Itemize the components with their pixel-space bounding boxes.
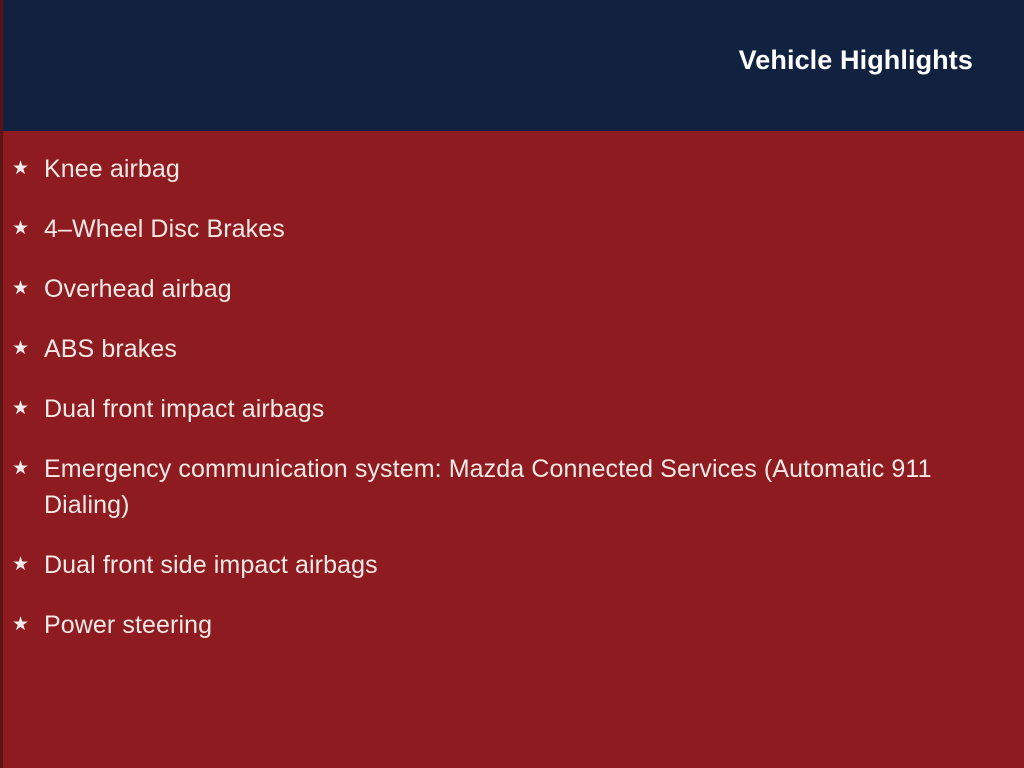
- list-item-label: Emergency communication system: Mazda Co…: [44, 451, 944, 523]
- list-item: ★ Knee airbag: [12, 151, 984, 187]
- star-bullet-icon: ★: [12, 607, 44, 643]
- page-title: Vehicle Highlights: [739, 46, 973, 76]
- star-bullet-icon: ★: [12, 151, 44, 187]
- star-bullet-icon: ★: [12, 331, 44, 367]
- list-item: ★ ABS brakes: [12, 331, 984, 367]
- star-bullet-icon: ★: [12, 391, 44, 427]
- list-item: ★ Emergency communication system: Mazda …: [12, 451, 984, 523]
- star-bullet-icon: ★: [12, 271, 44, 307]
- vehicle-highlights-slide: Vehicle Highlights ★ Knee airbag ★ 4–Whe…: [0, 0, 1024, 768]
- list-item-label: Overhead airbag: [44, 271, 944, 307]
- list-item-label: 4–Wheel Disc Brakes: [44, 211, 944, 247]
- list-item-label: Dual front side impact airbags: [44, 547, 944, 583]
- list-item-label: Power steering: [44, 607, 944, 643]
- list-item-label: Knee airbag: [44, 151, 944, 187]
- list-item: ★ 4–Wheel Disc Brakes: [12, 211, 984, 247]
- list-item: ★ Power steering: [12, 607, 984, 643]
- star-bullet-icon: ★: [12, 547, 44, 583]
- slide-body: ★ Knee airbag ★ 4–Wheel Disc Brakes ★ Ov…: [0, 131, 1024, 768]
- list-item: ★ Dual front impact airbags: [12, 391, 984, 427]
- list-item-label: Dual front impact airbags: [44, 391, 944, 427]
- slide-left-edge: [0, 0, 3, 768]
- list-item-label: ABS brakes: [44, 331, 944, 367]
- slide-header-band: Vehicle Highlights: [0, 0, 1024, 131]
- star-bullet-icon: ★: [12, 451, 44, 487]
- list-item: ★ Overhead airbag: [12, 271, 984, 307]
- list-item: ★ Dual front side impact airbags: [12, 547, 984, 583]
- vehicle-highlights-list: ★ Knee airbag ★ 4–Wheel Disc Brakes ★ Ov…: [0, 131, 1024, 643]
- star-bullet-icon: ★: [12, 211, 44, 247]
